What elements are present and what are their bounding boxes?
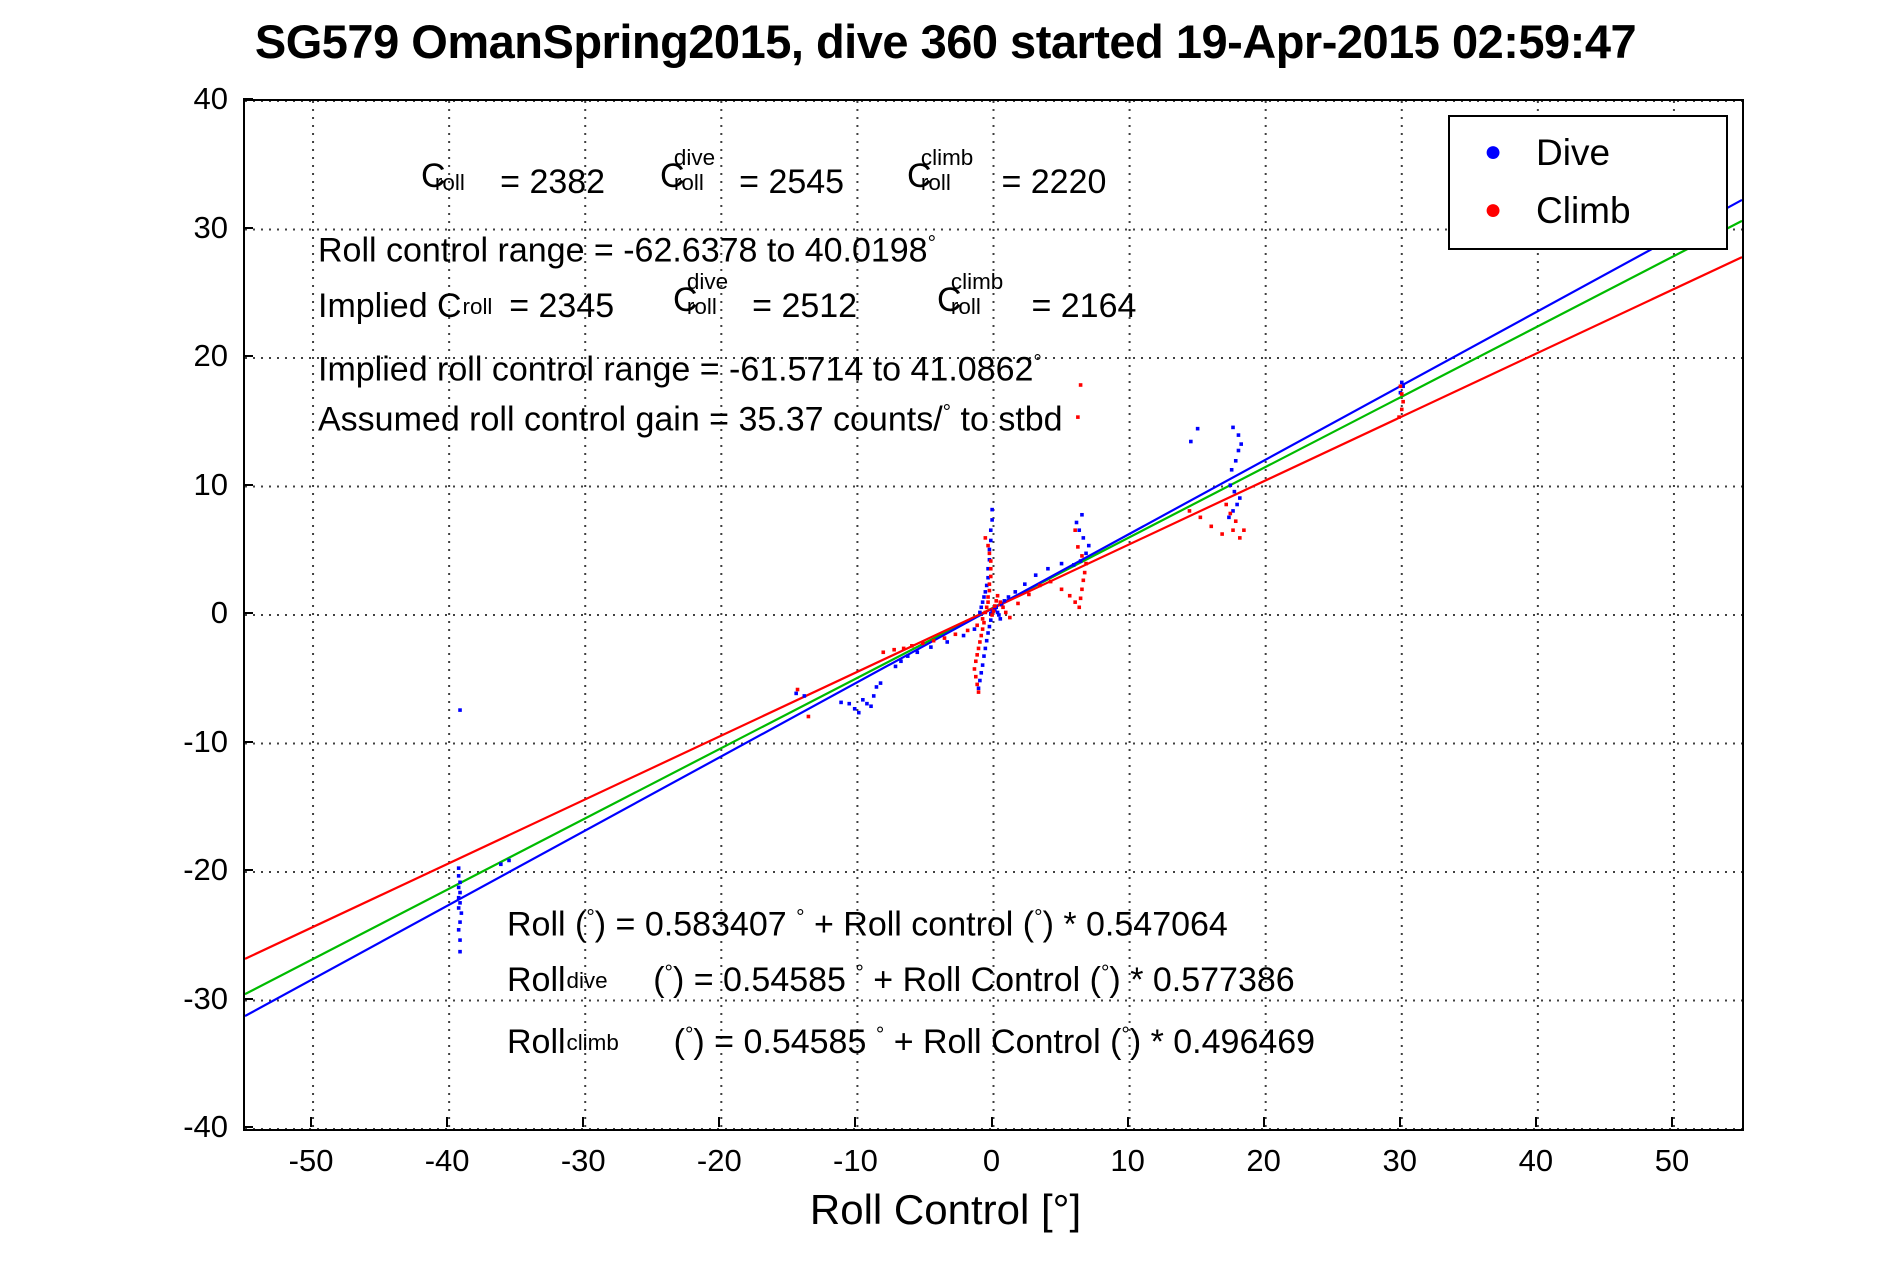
y-tick-label: 20 [108,340,228,371]
y-tick-mark [243,484,253,486]
equation-roll-dive: Rolldive (°) = 0.54585 ° + Roll Control … [507,957,1295,997]
y-tick-label: 30 [108,212,228,243]
annotation-roll-control-range: Roll control range = -62.6378 to 40.0198… [318,233,936,268]
degree-icon: ° [1121,1023,1129,1046]
y-tick-label: 0 [108,597,228,628]
degree-icon: ° [1033,351,1041,374]
climb-subscript: climb [566,1019,665,1053]
y-tick-label: 10 [108,469,228,500]
annotation-implied-c-roll-dive: C dive roll = 2512 [673,283,857,323]
implied-c-climb-value: = 2164 [1031,287,1136,325]
y-tick-mark [243,741,253,743]
annotation-implied-c-roll-climb: C climb roll = 2164 [937,283,1136,323]
x-tick-label: -50 [241,1145,381,1176]
legend-item-dive: ● Dive [1450,123,1726,181]
climb-marker-icon: ● [1450,195,1536,225]
y-tick-mark [243,227,253,229]
series-dive [457,381,1405,954]
x-tick-label: 10 [1058,1145,1198,1176]
x-tick-mark [1535,1117,1537,1127]
annotation-c-roll-climb: C climb roll = 2220 [907,159,1106,199]
c-roll-climb-symbol: C climb roll [907,159,992,193]
x-tick-mark [854,1117,856,1127]
y-tick-mark [243,612,253,614]
x-tick-label: 50 [1602,1145,1742,1176]
y-tick-mark [243,1126,253,1128]
assumed-gain-suffix: to stbd [951,401,1063,439]
implied-c-climb-symbol: C climb roll [937,283,1022,317]
equation-roll-all: Roll (°) = 0.583407 ° + Roll control (°)… [507,907,1228,942]
y-tick-mark [243,869,253,871]
degree-icon: ° [855,961,863,984]
implied-c-dive-value: = 2512 [752,287,857,325]
x-tick-mark [1263,1117,1265,1127]
x-tick-mark [718,1117,720,1127]
y-tick-label: -40 [108,1111,228,1142]
c-roll-dive-symbol: C dive roll [660,159,730,193]
y-tick-mark [243,998,253,1000]
degree-icon: ° [796,906,804,929]
assumed-gain-prefix: Assumed roll control gain = 35.37 counts… [318,401,943,439]
legend-item-climb: ● Climb [1450,181,1726,239]
y-tick-mark [243,355,253,357]
plot-page: SG579 OmanSpring2015, dive 360 started 1… [0,0,1891,1262]
x-axis-label: Roll Control [°] [0,1186,1891,1234]
annotation-implied-c-roll: Implied Croll= 2345 [318,283,614,323]
implied-prefix: Implied C [318,287,462,325]
dive-marker-icon: ● [1450,137,1536,167]
x-tick-label: -30 [513,1145,653,1176]
x-tick-label: -10 [785,1145,925,1176]
legend-label-dive: Dive [1536,134,1610,171]
y-tick-label: -10 [108,726,228,757]
plot-area: ● Dive ● Climb C roll = 2382 C dive roll… [243,99,1744,1131]
y-tick-mark [243,98,253,100]
annotation-c-roll: C roll = 2382 [421,159,605,199]
x-tick-mark [1127,1117,1129,1127]
implied-c-roll-symbol: roll [462,283,510,317]
x-tick-mark [310,1117,312,1127]
x-tick-mark [582,1117,584,1127]
degree-icon: ° [665,961,673,984]
roll-control-range-text: Roll control range = -62.6378 to 40.0198 [318,232,928,270]
x-tick-label: 30 [1330,1145,1470,1176]
c-roll-climb-value: = 2220 [1001,163,1106,201]
annotation-c-roll-dive: C dive roll = 2545 [660,159,844,199]
degree-icon: ° [876,1023,884,1046]
annotation-assumed-gain: Assumed roll control gain = 35.37 counts… [318,402,1063,437]
legend: ● Dive ● Climb [1448,115,1728,250]
equation-roll-climb: Rollclimb (°) = 0.54585 ° + Roll Control… [507,1019,1315,1059]
implied-roll-control-range-text: Implied roll control range = -61.5714 to… [318,351,1033,389]
x-tick-mark [1399,1117,1401,1127]
degree-icon: ° [586,906,594,929]
degree-icon: ° [943,401,951,424]
y-tick-label: -30 [108,983,228,1014]
x-tick-label: 40 [1466,1145,1606,1176]
page-title: SG579 OmanSpring2015, dive 360 started 1… [0,14,1891,69]
implied-c-roll-value: = 2345 [509,287,614,325]
x-tick-mark [991,1117,993,1127]
legend-label-climb: Climb [1536,192,1631,229]
x-tick-mark [446,1117,448,1127]
c-roll-dive-value: = 2545 [739,163,844,201]
y-tick-label: -20 [108,854,228,885]
dive-subscript: dive [566,957,644,991]
x-tick-label: -20 [649,1145,789,1176]
x-tick-label: -40 [377,1145,517,1176]
x-tick-mark [1671,1117,1673,1127]
c-roll-value: = 2382 [500,163,605,201]
annotation-implied-roll-control-range: Implied roll control range = -61.5714 to… [318,352,1042,387]
degree-icon: ° [928,232,936,255]
c-roll-symbol: C roll [421,159,491,193]
x-tick-label: 20 [1194,1145,1334,1176]
y-tick-label: 40 [108,83,228,114]
x-tick-label: 0 [922,1145,1062,1176]
implied-c-dive-symbol: C dive roll [673,283,743,317]
degree-icon: ° [1034,906,1042,929]
